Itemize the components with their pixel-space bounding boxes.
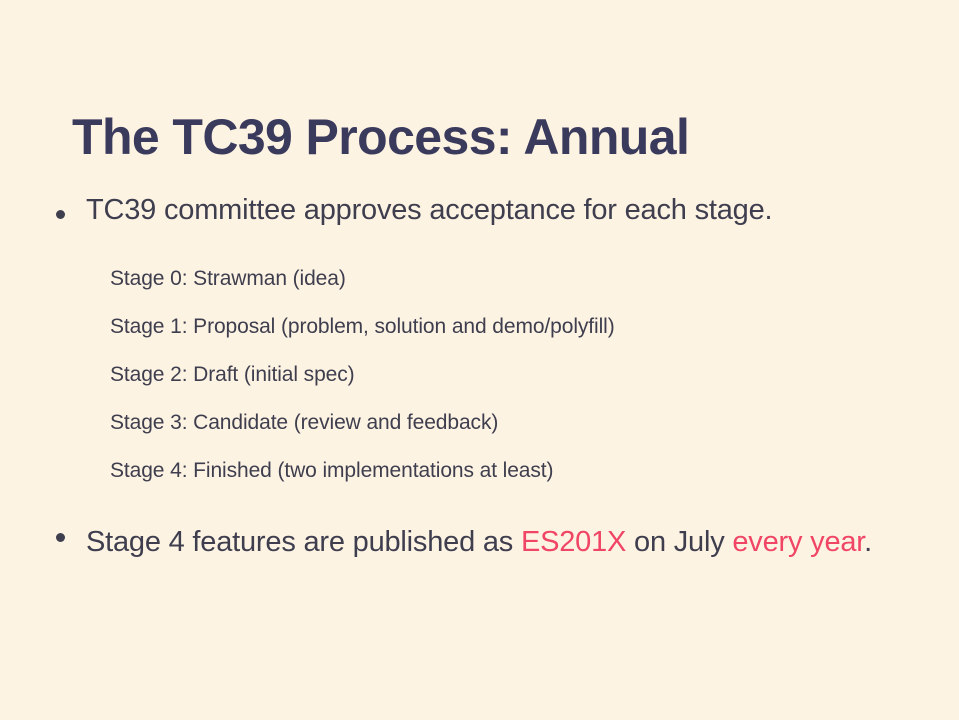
bullet-text-publication: Stage 4 features are published as ES201X…: [86, 519, 872, 566]
list-item-stage-2: Stage 2: Draft (initial spec): [0, 351, 959, 399]
slide: The TC39 Process: Annual TC39 committee …: [0, 0, 959, 720]
bullet-dot-icon: [56, 533, 65, 542]
publication-text-part1: Stage 4 features are published as: [86, 526, 521, 558]
bullet-item-committee: TC39 committee approves acceptance for e…: [0, 196, 959, 225]
publication-text-part2: on July: [626, 526, 732, 558]
bullet-dot-icon: [56, 210, 65, 219]
list-item-stage-1: Stage 1: Proposal (problem, solution and…: [0, 303, 959, 351]
publication-accent-es201x: ES201X: [521, 526, 626, 558]
stage-list: Stage 0: Strawman (idea) Stage 1: Propos…: [0, 255, 959, 495]
list-item-stage-4: Stage 4: Finished (two implementations a…: [0, 447, 959, 495]
bullet-text-committee: TC39 committee approves acceptance for e…: [86, 196, 772, 225]
list-item-stage-0: Stage 0: Strawman (idea): [0, 255, 959, 303]
bullet-item-publication: Stage 4 features are published as ES201X…: [0, 519, 959, 566]
slide-body: TC39 committee approves acceptance for e…: [0, 196, 959, 566]
page-title: The TC39 Process: Annual: [72, 110, 689, 165]
list-item-stage-3: Stage 3: Candidate (review and feedback): [0, 399, 959, 447]
publication-text-part3: .: [864, 526, 872, 558]
publication-accent-every-year: every year: [732, 526, 864, 558]
